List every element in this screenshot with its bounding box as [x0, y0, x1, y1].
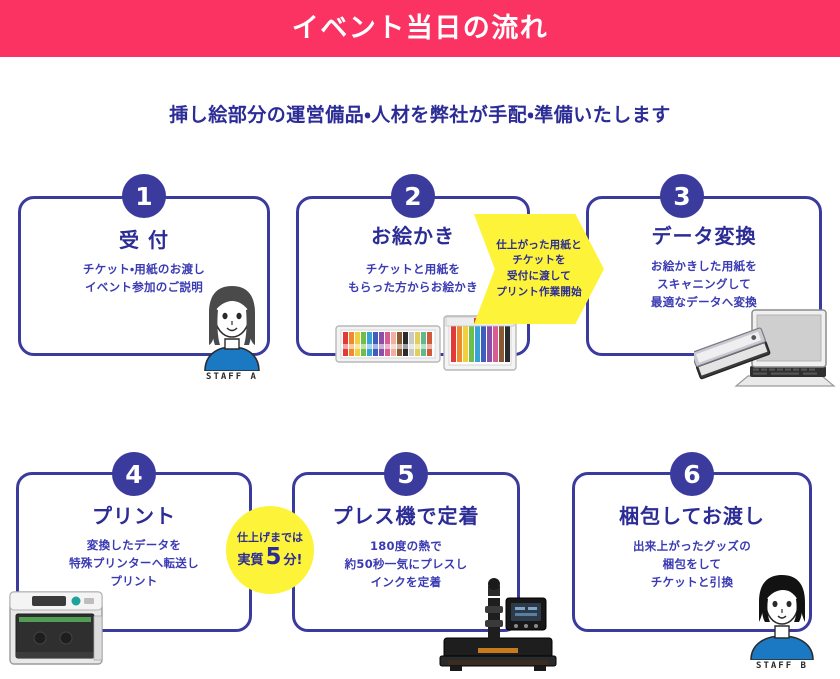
step-title-1: 受 付 [18, 224, 270, 253]
step-title-5: プレス機で定着 [292, 500, 520, 529]
scanner-laptop-icon [694, 300, 840, 390]
header-banner: イベント当日の流れ [0, 0, 840, 57]
step-title-3: データ変換 [586, 220, 822, 249]
scanner-laptop [694, 300, 840, 390]
staff-b-figure: STAFF B [739, 570, 825, 671]
step-desc-line: 約50秒一気にプレスし [292, 556, 520, 574]
duration-suffix: 分! [284, 549, 303, 568]
step-badge-2: 2 [391, 174, 435, 218]
staff-b-icon [739, 570, 825, 660]
step-desc-line: お絵かきした用紙を [586, 258, 822, 276]
step-desc-line: 出来上がったグッズの [572, 538, 812, 556]
staff-a-label: STAFF A [189, 372, 275, 382]
step-badge-3: 3 [660, 174, 704, 218]
step-desc-line: チケット・用紙のお渡し [18, 261, 270, 279]
step-title-6: 梱包してお渡し [572, 500, 812, 529]
callout-line: プリント作業開始 [496, 285, 582, 301]
duration-number: 5 [266, 546, 282, 569]
duration-badge-caption: 仕上げまでは [237, 531, 303, 544]
heat-press [438, 576, 568, 676]
staff-b-label: STAFF B [739, 661, 825, 671]
step-badge-6: 6 [670, 452, 714, 496]
step-badge-4: 4 [112, 452, 156, 496]
callout-line: 仕上がった用紙と [496, 238, 582, 254]
page-title: イベント当日の流れ [292, 15, 549, 42]
staff-a-figure: STAFF A [189, 283, 275, 382]
heat-press-icon [438, 576, 568, 676]
duration-prefix: 実質 [238, 549, 264, 568]
chevron-callout-text: 仕上がった用紙と チケットを 受付に渡して プリント作業開始 [496, 238, 582, 301]
subtitle-text: 挿し絵部分の運営備品・人材を弊社が手配・準備いたします [0, 100, 840, 127]
printer [4, 586, 112, 672]
duration-badge-value: 実質 5 分! [238, 546, 303, 569]
step-title-4: プリント [16, 500, 252, 529]
step-desc-line: 特殊プリンターへ転送し [16, 555, 252, 573]
step-desc-4: 変換したデータを 特殊プリンターへ転送し プリント [16, 537, 252, 590]
duration-badge: 仕上げまでは 実質 5 分! [226, 506, 314, 594]
step-badge-5: 5 [384, 452, 428, 496]
printer-icon [4, 586, 112, 672]
event-flow-infographic: イベント当日の流れ 挿し絵部分の運営備品・人材を弊社が手配・準備いたします 1 … [0, 0, 840, 679]
step-badge-1: 1 [122, 174, 166, 218]
step-desc-line: 180度の熱で [292, 538, 520, 556]
callout-line: 受付に渡して [496, 269, 582, 285]
step-desc-line: 変換したデータを [16, 537, 252, 555]
callout-line: チケットを [496, 253, 582, 269]
staff-a-icon [189, 283, 275, 371]
step-desc-line: スキャニングして [586, 276, 822, 294]
